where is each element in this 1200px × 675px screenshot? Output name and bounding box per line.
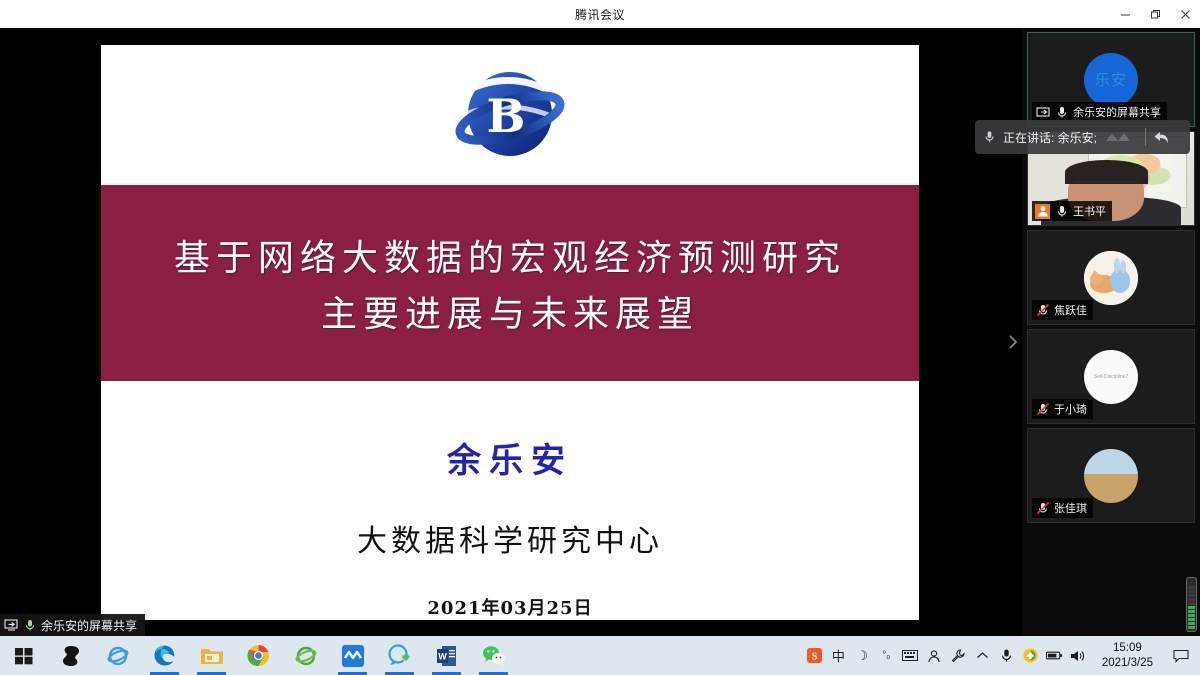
collapse-panel-button[interactable]	[1006, 328, 1020, 356]
participant-name-bar: 焦跃佳	[1032, 300, 1093, 320]
overlay-divider	[1145, 128, 1146, 146]
keyboard-icon[interactable]	[902, 647, 919, 664]
participant-name-bar: 王书平	[1032, 201, 1112, 221]
svg-text:S: S	[812, 652, 818, 663]
share-indicator-text: 余乐安的屏幕共享	[41, 617, 137, 634]
internet-explorer-icon[interactable]	[282, 636, 329, 675]
active-speaker-text: 正在讲话: 余乐安;	[1003, 129, 1097, 146]
participant-name: 于小琦	[1054, 401, 1087, 417]
slide-logo-zone: B	[101, 45, 919, 185]
volume-bars-icon	[1104, 129, 1138, 145]
window-controls	[1110, 0, 1200, 28]
microphone-muted-icon	[1035, 501, 1050, 516]
user-icon[interactable]	[926, 647, 943, 664]
slide-title-line-2: 主要进展与未来展望	[321, 285, 699, 337]
person-glasses	[1074, 181, 1137, 188]
microphone-tray-icon[interactable]	[998, 647, 1015, 664]
wechat-icon[interactable]	[470, 636, 517, 675]
participant-tile[interactable]: 焦跃佳	[1027, 230, 1195, 325]
degree-icon[interactable]: °₀	[878, 647, 895, 664]
participant-tile[interactable]: 张佳琪	[1027, 428, 1195, 523]
word-icon[interactable]: W	[423, 636, 470, 675]
start-button[interactable]	[0, 636, 47, 675]
chrome-icon[interactable]	[235, 636, 282, 675]
meter-segment	[1188, 586, 1195, 589]
taskbar-items: W	[0, 636, 517, 675]
participant-name: 张佳琪	[1054, 500, 1087, 516]
windows-taskbar: W	[0, 636, 1200, 675]
close-button[interactable]	[1170, 0, 1200, 28]
return-arrow-icon[interactable]	[1153, 130, 1170, 145]
input-chinese-icon[interactable]: 中	[830, 647, 847, 664]
microphone-muted-icon	[1035, 303, 1050, 318]
wrench-icon[interactable]	[950, 647, 967, 664]
presentation-slide: B 基于网络大数据的宏观经济预测研究 主要进展与未来展望 余乐安 大数据科学研究…	[101, 45, 919, 620]
audio-level-meter[interactable]	[1186, 577, 1197, 632]
meter-segment	[1188, 618, 1195, 621]
microphone-muted-icon	[1035, 402, 1050, 417]
avatar	[1084, 251, 1138, 305]
screen-share-icon	[1035, 105, 1050, 120]
avatar: Self-Discipline7	[1084, 350, 1138, 404]
qq-icon[interactable]	[376, 636, 423, 675]
clock-time: 15:09	[1102, 641, 1153, 655]
avatar: 乐安	[1084, 53, 1138, 107]
meter-segment	[1188, 614, 1195, 617]
slide-organization: 大数据科学研究中心	[357, 516, 663, 560]
participant-tile[interactable]: Self-Discipline7 于小琦	[1027, 329, 1195, 424]
microphone-icon	[983, 129, 996, 145]
slide-title-line-1: 基于网络大数据的宏观经济预测研究	[174, 229, 846, 281]
battery-icon[interactable]	[1046, 647, 1063, 664]
security-icon[interactable]	[1022, 647, 1039, 664]
screen-share-icon	[4, 618, 19, 632]
window-title: 腾讯会议	[575, 6, 625, 23]
minimize-button[interactable]	[1110, 0, 1140, 28]
tencent-meeting-window: 腾讯会议	[0, 0, 1200, 675]
notification-icon[interactable]	[1168, 649, 1194, 663]
moon-icon[interactable]: ☽	[854, 647, 871, 664]
meter-segment	[1188, 602, 1195, 605]
microphone-icon	[1054, 105, 1069, 120]
institution-logo-icon: B	[440, 62, 580, 167]
host-badge-icon	[1035, 204, 1050, 219]
edge-icon[interactable]	[141, 636, 188, 675]
meter-segment	[1188, 598, 1195, 601]
meeting-content: B 基于网络大数据的宏观经济预测研究 主要进展与未来展望 余乐安 大数据科学研究…	[0, 28, 1200, 636]
participant-name-bar: 张佳琪	[1032, 498, 1093, 518]
shared-screen-stage[interactable]: B 基于网络大数据的宏观经济预测研究 主要进展与未来展望 余乐安 大数据科学研究…	[0, 28, 1022, 636]
meter-segment	[1188, 626, 1195, 629]
participant-name: 余乐安的屏幕共享	[1073, 104, 1161, 120]
participant-name: 焦跃佳	[1054, 302, 1087, 318]
sogou-icon[interactable]	[47, 636, 94, 675]
meter-segment	[1188, 594, 1195, 597]
slide-presenter-name: 余乐安	[447, 433, 573, 482]
microphone-icon	[24, 618, 36, 632]
active-speaker-overlay[interactable]: 正在讲话: 余乐安;	[975, 120, 1190, 154]
sogou-tray-icon[interactable]: S	[806, 647, 823, 664]
show-hidden-icons-button[interactable]	[974, 647, 991, 664]
folder-icon[interactable]	[188, 636, 235, 675]
avatar-text: Self-Discipline7	[1094, 374, 1128, 380]
meter-segment	[1188, 606, 1195, 609]
slide-title-banner: 基于网络大数据的宏观经济预测研究 主要进展与未来展望	[101, 185, 919, 381]
svg-text:B: B	[487, 89, 526, 143]
system-tray: S 中 ☽ °₀	[806, 641, 1200, 670]
participant-name: 王书平	[1073, 203, 1106, 219]
meter-segment	[1188, 622, 1195, 625]
tencent-meeting-icon[interactable]	[329, 636, 376, 675]
clock-date: 2021/3/25	[1102, 656, 1153, 670]
screen-share-indicator: 余乐安的屏幕共享	[0, 614, 145, 636]
avatar-initials: 乐安	[1095, 69, 1127, 90]
meter-segment	[1188, 610, 1195, 613]
slide-footer-block: 余乐安 大数据科学研究中心 2021年03月25日	[101, 381, 919, 620]
window-titlebar: 腾讯会议	[0, 0, 1200, 28]
svg-text:W: W	[438, 651, 447, 661]
avatar	[1084, 449, 1138, 503]
slide-date: 2021年03月25日	[427, 594, 592, 620]
maximize-restore-button[interactable]	[1140, 0, 1170, 28]
meter-segment	[1188, 590, 1195, 593]
participant-name-bar: 余乐安的屏幕共享	[1032, 102, 1167, 122]
participant-tile-screenshare[interactable]: 乐安	[1027, 32, 1195, 127]
volume-icon[interactable]	[1070, 647, 1087, 664]
microphone-icon	[1054, 204, 1069, 219]
participant-name-bar: 于小琦	[1032, 399, 1093, 419]
internet-explorer-icon[interactable]	[94, 636, 141, 675]
taskbar-clock[interactable]: 15:09 2021/3/25	[1094, 641, 1161, 670]
